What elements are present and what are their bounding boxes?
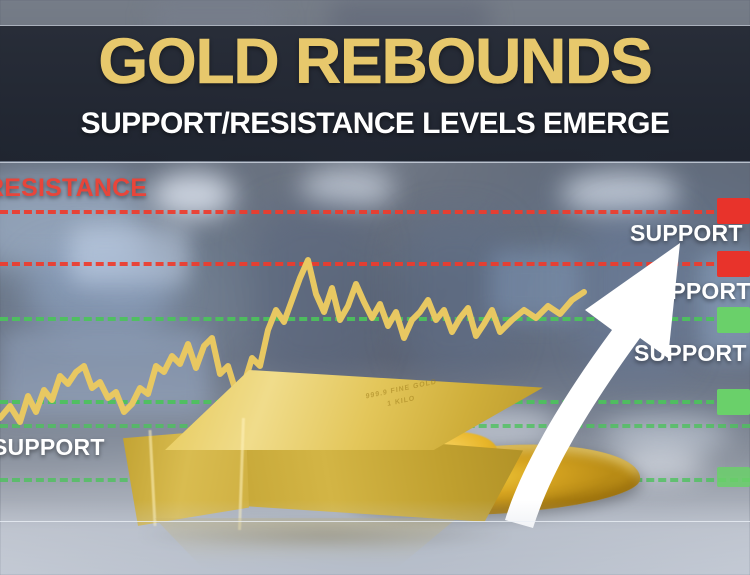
- label-support-mid: SUPPORT: [638, 278, 750, 305]
- label-support-top: SUPPORT: [630, 220, 743, 247]
- table-edge-line: [0, 521, 750, 522]
- gold-rebounds-graphic: GOLD REBOUNDS SUPPORT/RESISTANCE LEVELS …: [0, 0, 750, 575]
- label-resistance: RESISTANCE: [0, 174, 147, 203]
- page-subtitle: SUPPORT/RESISTANCE LEVELS EMERGE: [0, 108, 750, 140]
- table-surface-glow: [0, 500, 750, 575]
- page-title: GOLD REBOUNDS: [0, 29, 750, 93]
- label-support-low: SUPPORT: [634, 340, 747, 367]
- label-support-left: SUPPORT: [0, 434, 105, 461]
